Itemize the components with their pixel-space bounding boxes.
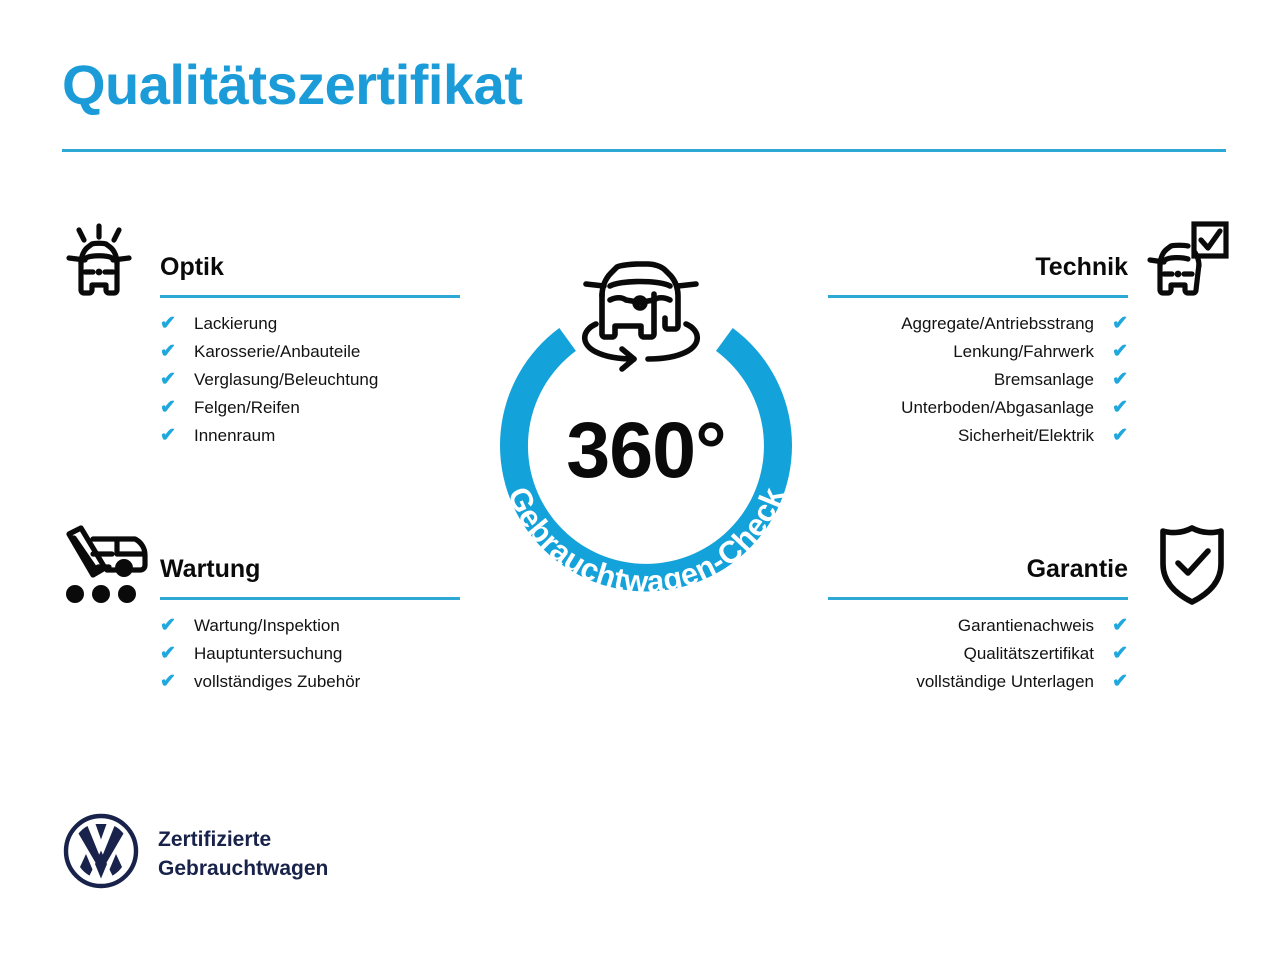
check-icon: ✔	[160, 314, 194, 333]
section-wartung-list: ✔ Wartung/Inspektion ✔ Hauptuntersuchung…	[160, 616, 460, 700]
list-item-label: Unterboden/Abgasanlage	[901, 398, 1094, 418]
list-item-label: Aggregate/Antriebsstrang	[901, 314, 1094, 334]
brand-line-2: Gebrauchtwagen	[158, 857, 328, 880]
check-icon: ✔	[1094, 314, 1128, 333]
section-optik-list: ✔ Lackierung ✔ Karosserie/Anbauteile ✔ V…	[160, 314, 460, 454]
car-polish-icon	[55, 216, 143, 309]
list-item-label: Bremsanlage	[994, 370, 1094, 390]
list-item: Aggregate/Antriebsstrang ✔	[828, 314, 1128, 342]
brand-lockup: Zertifizierte Gebrauchtwagen	[62, 812, 328, 895]
list-item: ✔ Felgen/Reifen	[160, 398, 460, 426]
check-icon: ✔	[1094, 616, 1128, 635]
list-item: vollständige Unterlagen ✔	[828, 672, 1128, 700]
section-wartung-header: Wartung	[160, 554, 460, 600]
list-item: Unterboden/Abgasanlage ✔	[828, 398, 1128, 426]
shield-check-icon	[1155, 522, 1229, 613]
list-item: ✔ Lackierung	[160, 314, 460, 342]
section-technik-rule	[828, 295, 1128, 298]
check-icon: ✔	[1094, 342, 1128, 361]
list-item-label: Hauptuntersuchung	[194, 644, 342, 664]
section-garantie: Garantie Garantienachweis ✔ Qualitätszer…	[828, 554, 1128, 700]
badge-curved-label: Gebrauchtwagen-Check	[501, 482, 791, 600]
check-icon: ✔	[1094, 644, 1128, 663]
section-technik-list: Aggregate/Antriebsstrang ✔ Lenkung/Fahrw…	[828, 314, 1128, 454]
check-icon: ✔	[160, 644, 194, 663]
list-item-label: Garantienachweis	[958, 616, 1094, 636]
section-wartung: Wartung ✔ Wartung/Inspektion ✔ Hauptunte…	[160, 554, 460, 700]
badge-360-gebrauchtwagen-check: Gebrauchtwagen-Check 360°	[448, 218, 844, 648]
list-item: Qualitätszertifikat ✔	[828, 644, 1128, 672]
list-item: ✔ Verglasung/Beleuchtung	[160, 370, 460, 398]
list-item-label: Verglasung/Beleuchtung	[194, 370, 378, 390]
list-item-label: Innenraum	[194, 426, 275, 446]
list-item: Sicherheit/Elektrik ✔	[828, 426, 1128, 454]
list-item-label: Lenkung/Fahrwerk	[953, 342, 1094, 362]
list-item: ✔ Wartung/Inspektion	[160, 616, 460, 644]
check-icon: ✔	[160, 672, 194, 691]
list-item: ✔ vollständiges Zubehör	[160, 672, 460, 700]
list-item-label: vollständiges Zubehör	[194, 672, 360, 692]
badge-center-label: 360°	[448, 410, 844, 489]
list-item-label: Lackierung	[194, 314, 277, 334]
car-checkbox-icon	[1144, 216, 1232, 309]
check-icon: ✔	[1094, 672, 1128, 691]
section-garantie-list: Garantienachweis ✔ Qualitätszertifikat ✔…	[828, 616, 1128, 700]
section-technik-header: Technik	[828, 252, 1128, 298]
check-icon: ✔	[160, 342, 194, 361]
list-item-label: Wartung/Inspektion	[194, 616, 340, 636]
section-garantie-header: Garantie	[828, 554, 1128, 600]
section-wartung-rule	[160, 597, 460, 600]
check-icon: ✔	[160, 398, 194, 417]
section-garantie-title: Garantie	[828, 554, 1128, 584]
list-item: ✔ Innenraum	[160, 426, 460, 454]
list-item: Bremsanlage ✔	[828, 370, 1128, 398]
section-optik-title: Optik	[160, 252, 460, 282]
section-optik-rule	[160, 295, 460, 298]
brand-line-1: Zertifizierte	[158, 828, 271, 851]
list-item: ✔ Hauptuntersuchung	[160, 644, 460, 672]
section-optik: Optik ✔ Lackierung ✔ Karosserie/Anbautei…	[160, 252, 460, 454]
list-item-label: Felgen/Reifen	[194, 398, 300, 418]
section-technik: Technik Aggregate/Antriebsstrang ✔ Lenku…	[828, 252, 1128, 454]
check-icon: ✔	[1094, 398, 1128, 417]
check-icon: ✔	[160, 426, 194, 445]
check-icon: ✔	[160, 370, 194, 389]
list-item-label: Sicherheit/Elektrik	[958, 426, 1094, 446]
list-item-label: vollständige Unterlagen	[916, 672, 1094, 692]
check-icon: ✔	[160, 616, 194, 635]
list-item-label: Karosserie/Anbauteile	[194, 342, 360, 362]
brand-text: Zertifizierte Gebrauchtwagen	[158, 825, 328, 883]
section-garantie-rule	[828, 597, 1128, 600]
car-pencil-icon	[57, 522, 151, 613]
list-item: Garantienachweis ✔	[828, 616, 1128, 644]
list-item: Lenkung/Fahrwerk ✔	[828, 342, 1128, 370]
list-item: ✔ Karosserie/Anbauteile	[160, 342, 460, 370]
section-wartung-title: Wartung	[160, 554, 460, 584]
vw-logo	[62, 812, 140, 895]
section-optik-header: Optik	[160, 252, 460, 298]
list-item-label: Qualitätszertifikat	[964, 644, 1094, 664]
page-title: Qualitätszertifikat	[62, 56, 522, 115]
section-technik-title: Technik	[828, 252, 1128, 282]
check-icon: ✔	[1094, 426, 1128, 445]
title-divider	[62, 149, 1226, 152]
check-icon: ✔	[1094, 370, 1128, 389]
